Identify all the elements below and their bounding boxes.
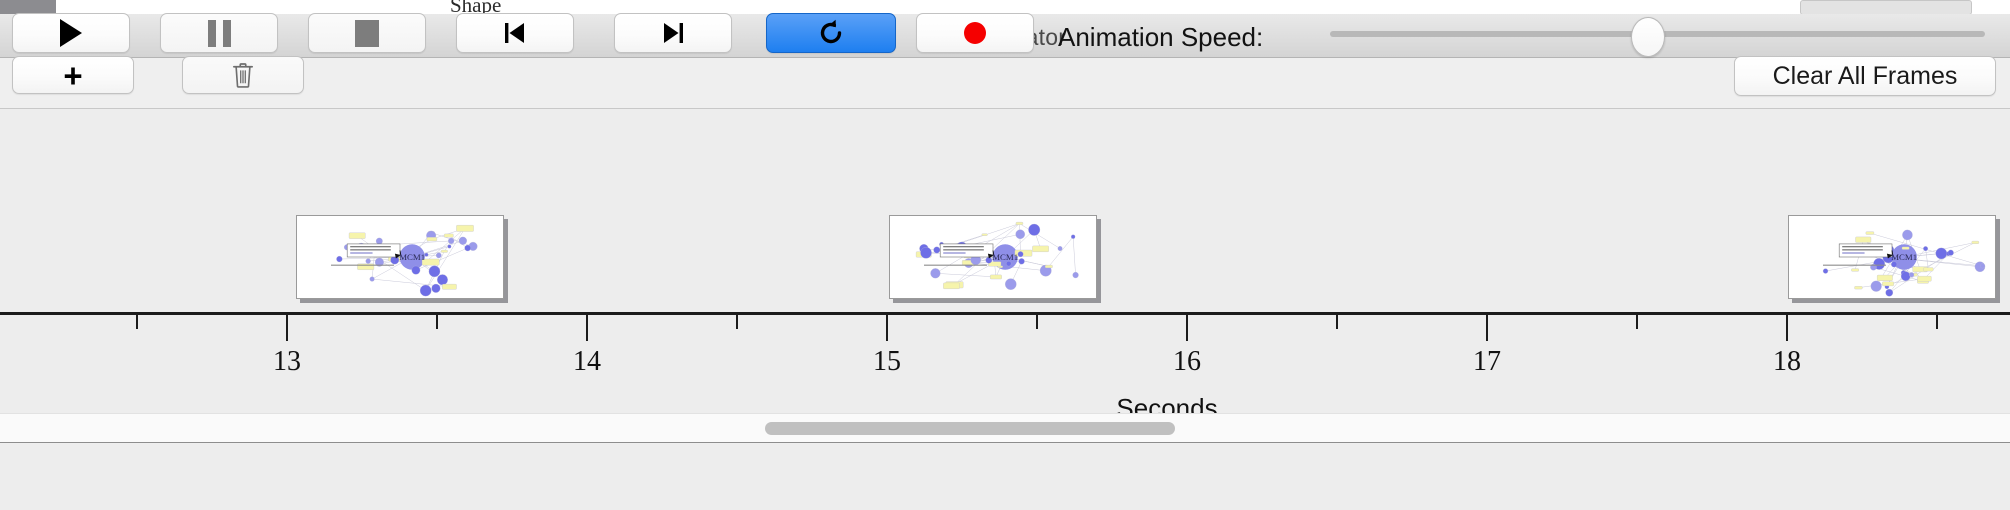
axis-tick-label: 16 xyxy=(1173,346,1201,378)
network-graph-thumbnail: MCM1 xyxy=(1789,216,1995,298)
axis-tick xyxy=(1336,315,1338,329)
cyanimator-window: Shape CyAnimator + Clear All Frames 1213… xyxy=(0,0,2010,510)
animation-speed-label: Animation Speed: xyxy=(1058,22,1263,53)
plus-icon: + xyxy=(63,59,82,92)
axis-tick xyxy=(1036,315,1038,329)
background-window-strip: Shape xyxy=(0,0,2010,14)
axis-tick xyxy=(886,315,888,341)
axis-tick xyxy=(1786,315,1788,341)
next-frame-button[interactable] xyxy=(614,13,732,53)
timeline-panel[interactable]: 12131415161718 MCM1MCM1MCM1 Seconds xyxy=(0,109,2010,413)
background-text-shape: Shape xyxy=(450,0,501,14)
animation-speed-slider-thumb[interactable] xyxy=(1631,17,1665,57)
axis-title-label: Seconds xyxy=(1116,393,1217,413)
timeline-scrollbar-thumb[interactable] xyxy=(765,422,1175,435)
axis-tick xyxy=(1486,315,1488,341)
axis-tick-label: 15 xyxy=(873,346,901,378)
loop-icon xyxy=(816,18,846,48)
axis-tick-label: 17 xyxy=(1473,346,1501,378)
play-icon xyxy=(60,19,82,47)
axis-tick xyxy=(436,315,438,329)
loop-button[interactable] xyxy=(766,13,896,53)
network-graph-thumbnail: MCM1 xyxy=(297,216,503,298)
hub-node-label: MCM1 xyxy=(1891,252,1917,262)
pause-icon xyxy=(208,20,231,47)
axis-tick xyxy=(1936,315,1938,329)
network-graph-thumbnail: MCM1 xyxy=(890,216,1096,298)
axis-tick-label: 12 xyxy=(0,346,1,378)
record-button[interactable] xyxy=(916,13,1034,53)
stop-icon xyxy=(355,20,379,47)
axis-tick xyxy=(586,315,588,341)
pause-button[interactable] xyxy=(160,13,278,53)
axis-tick xyxy=(736,315,738,329)
axis-tick-label: 14 xyxy=(573,346,601,378)
timeline-scrollbar[interactable] xyxy=(0,413,2010,443)
axis-tick xyxy=(286,315,288,341)
hub-node-label: MCM1 xyxy=(399,252,425,262)
timeline-frame[interactable]: MCM1 xyxy=(889,215,1097,299)
axis-tick xyxy=(1186,315,1188,341)
record-icon xyxy=(962,20,988,46)
playback-controls xyxy=(0,444,2010,510)
skip-back-icon xyxy=(500,19,530,47)
timeline-frame[interactable]: MCM1 xyxy=(1788,215,1996,299)
delete-frame-button[interactable] xyxy=(182,56,304,94)
timeline-axis xyxy=(0,312,2010,315)
timeline-frame[interactable]: MCM1 xyxy=(296,215,504,299)
axis-tick xyxy=(136,315,138,329)
add-frame-button[interactable]: + xyxy=(12,56,134,94)
background-scrollbar[interactable] xyxy=(1800,0,1972,14)
trash-icon xyxy=(232,62,254,88)
skip-forward-icon xyxy=(658,19,688,47)
clear-all-frames-label: Clear All Frames xyxy=(1773,62,1958,91)
axis-tick-label: 13 xyxy=(273,346,301,378)
clear-all-frames-button[interactable]: Clear All Frames xyxy=(1734,56,1996,96)
axis-title: Seconds xyxy=(0,393,2010,413)
hub-node-label: MCM1 xyxy=(992,252,1018,262)
axis-tick-label: 18 xyxy=(1773,346,1801,378)
stop-button[interactable] xyxy=(308,13,426,53)
play-button[interactable] xyxy=(12,13,130,53)
previous-frame-button[interactable] xyxy=(456,13,574,53)
axis-tick xyxy=(1636,315,1638,329)
